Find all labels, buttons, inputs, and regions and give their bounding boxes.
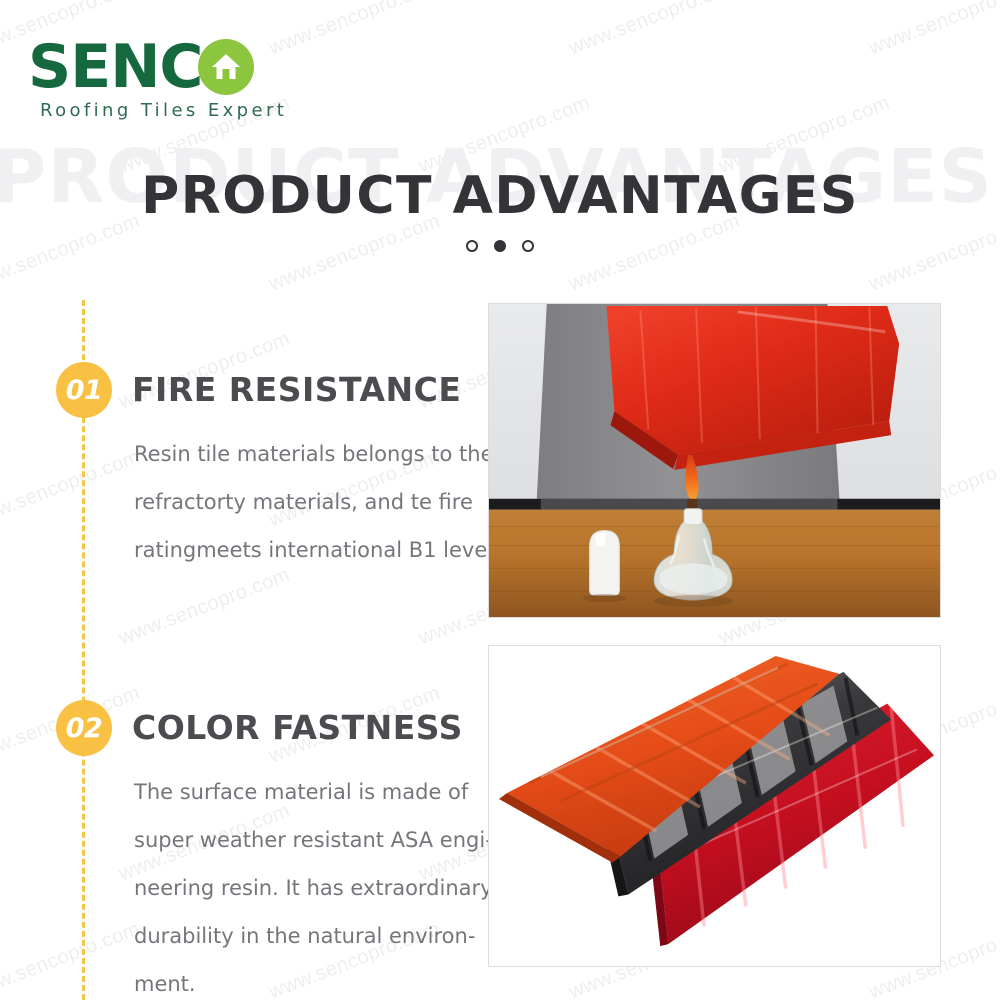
feature-body-line: refractorty materials, and te fire [134, 478, 504, 526]
product-advantages-page: www.sencopro.comwww.sencopro.comwww.senc… [0, 0, 1000, 1000]
heading-dot-3 [522, 240, 534, 252]
feature-title-color-fastness: COLOR FASTNESS [132, 708, 463, 747]
house-icon [210, 52, 242, 82]
feature-badge-02: 02 [56, 700, 112, 756]
feature-body-line: super weather resistant ASA engi- [134, 816, 504, 864]
fire-test-photo[interactable] [488, 303, 941, 618]
heading-dots [0, 240, 1000, 252]
feature-body-line: The surface material is made of [134, 768, 504, 816]
logo-wordmark: SENC [28, 36, 308, 98]
feature-body-line: Resin tile materials belongs to the [134, 430, 504, 478]
logo-o-circle [198, 39, 254, 95]
feature-body-color-fastness: The surface material is made of super we… [134, 768, 504, 1000]
watermark-text: www.sencopro.com [866, 0, 1000, 60]
feature-body-line: ratingmeets international B1 level. [134, 526, 504, 574]
tiles-stack-photo[interactable] [488, 645, 941, 967]
watermark-text: www.sencopro.com [566, 0, 744, 60]
feature-block-color-fastness: 02 COLOR FASTNESS The surface material i… [56, 700, 486, 980]
feature-body-fire-resistance: Resin tile materials belongs to the refr… [134, 430, 504, 574]
feature-body-line: neering resin. It has extraordinary [134, 864, 504, 912]
feature-body-line: ment. [134, 960, 504, 1000]
logo-text-senc: SENC [28, 37, 202, 97]
feature-badge-01: 01 [56, 362, 112, 418]
logo-tagline: Roofing Tiles Expert [40, 100, 308, 121]
feature-body-line: durability in the natural environ- [134, 912, 504, 960]
feature-title-fire-resistance: FIRE RESISTANCE [132, 370, 461, 409]
heading-dot-1 [466, 240, 478, 252]
page-title: PRODUCT ADVANTAGES [0, 170, 1000, 222]
heading-dot-2 [494, 240, 506, 252]
brand-logo[interactable]: SENC Roofing Tiles Expert [28, 36, 308, 136]
feature-block-fire-resistance: 01 FIRE RESISTANCE Resin tile materials … [56, 362, 486, 582]
page-heading: PRODUCT ADVANTAGES PRODUCT ADVANTAGES [0, 140, 1000, 270]
